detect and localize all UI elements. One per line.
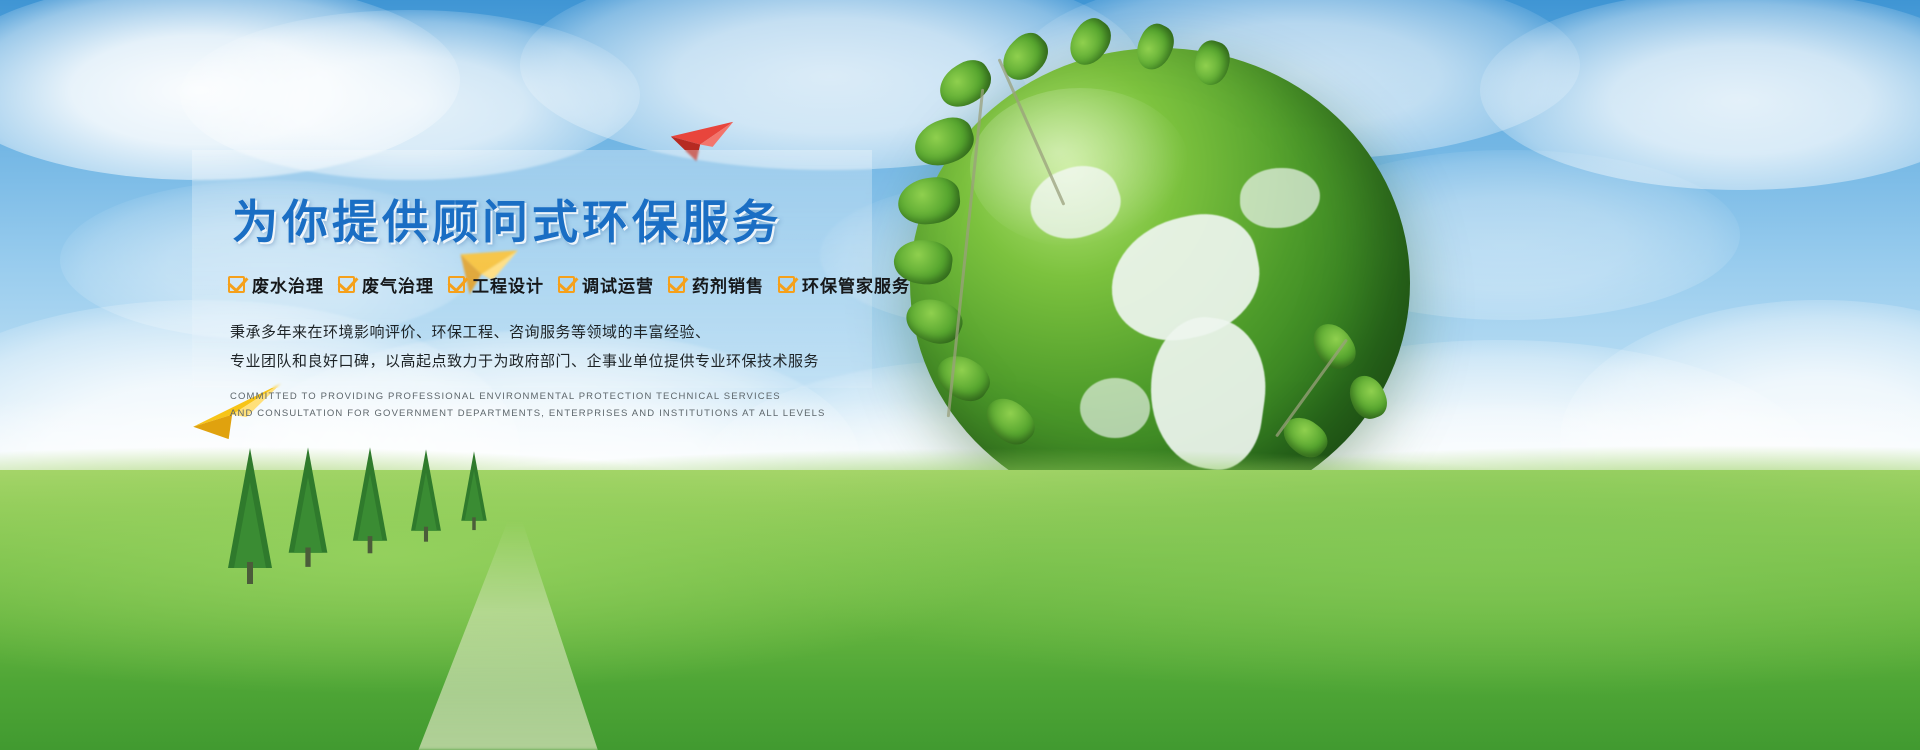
service-item-commissioning-operation[interactable]: 调试运营 [558,272,654,297]
service-item-engineering-design[interactable]: 工程设计 [448,272,544,297]
environmental-services-banner: 为你提供顾问式环保服务 废水治理 废气治理 工程设计 调试运营 药剂销售 [0,0,1920,750]
service-label: 药剂销售 [692,272,764,297]
checkbox-checked-icon [448,276,465,293]
conifer-tree [289,447,328,553]
banner-content: 为你提供顾问式环保服务 废水治理 废气治理 工程设计 调试运营 药剂销售 [192,150,1012,421]
service-item-wastewater[interactable]: 废水治理 [228,272,324,297]
conifer-tree [228,448,272,568]
conifer-tree [461,451,487,521]
checkbox-checked-icon [558,276,575,293]
checkbox-checked-icon [668,276,685,293]
english-description-line-2: AND CONSULTATION FOR GOVERNMENT DEPARTME… [230,406,1012,421]
description-line-1: 秉承多年来在环境影响评价、环保工程、咨询服务等领域的丰富经验、 [230,319,1012,346]
service-item-environmental-steward[interactable]: 环保管家服务 [778,272,910,297]
service-label: 工程设计 [472,272,544,297]
service-label: 废气治理 [362,272,434,297]
description-line-2: 专业团队和良好口碑，以高起点致力于为政府部门、企事业单位提供专业环保技术服务 [230,348,1012,375]
page-title: 为你提供顾问式环保服务 [232,186,1012,252]
service-item-chemical-sales[interactable]: 药剂销售 [668,272,764,297]
cloud-decoration [1480,0,1920,190]
service-label: 废水治理 [252,272,324,297]
service-list: 废水治理 废气治理 工程设计 调试运营 药剂销售 环保管家服务 [228,272,1012,297]
checkbox-checked-icon [778,276,795,293]
service-label: 环保管家服务 [802,272,910,297]
conifer-tree [411,449,441,531]
globe-landmass [1240,168,1320,228]
english-description-line-1: COMMITTED TO PROVIDING PROFESSIONAL ENVI… [230,389,1012,404]
conifer-tree [353,447,387,541]
service-label: 调试运营 [582,272,654,297]
checkbox-checked-icon [228,276,245,293]
service-item-waste-gas[interactable]: 废气治理 [338,272,434,297]
checkbox-checked-icon [338,276,355,293]
globe-leaf [932,53,999,115]
